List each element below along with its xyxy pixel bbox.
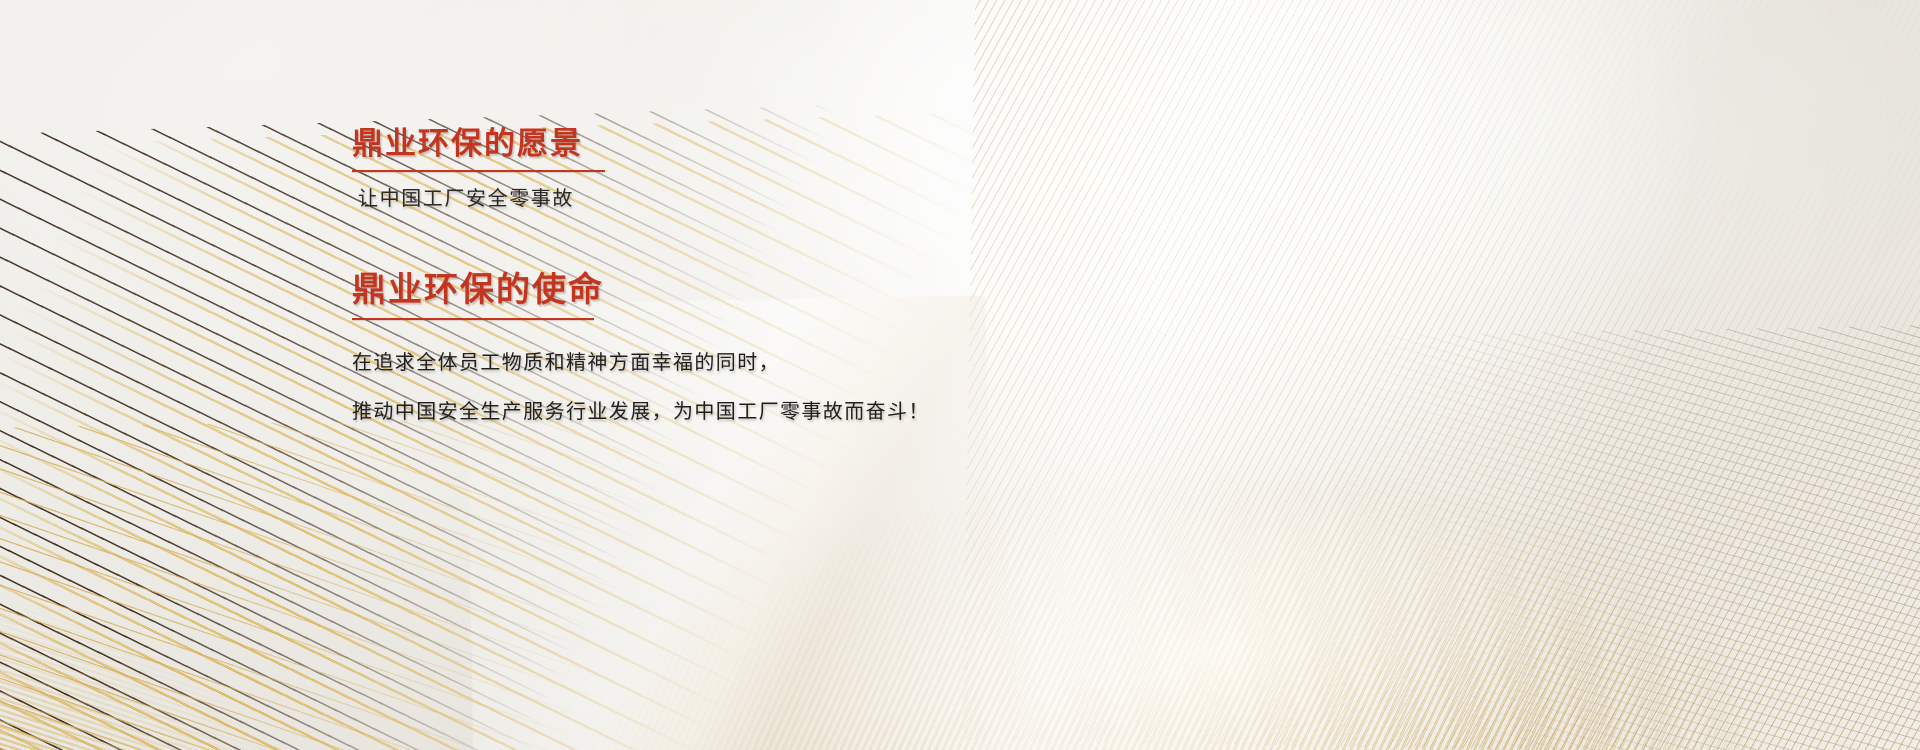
mission-line-1: 在追求全体员工物质和精神方面幸福的同时， xyxy=(352,348,1352,379)
banner-content: 鼎业环保的愿景 让中国工厂安全零事故 鼎业环保的使命 在追求全体员工物质和精神方… xyxy=(352,126,1352,428)
vision-mission-banner: 鼎业环保的愿景 让中国工厂安全零事故 鼎业环保的使命 在追求全体员工物质和精神方… xyxy=(0,0,1920,750)
mission-heading: 鼎业环保的使命 xyxy=(352,270,604,316)
mission-body: 在追求全体员工物质和精神方面幸福的同时， 推动中国安全生产服务行业发展，为中国工… xyxy=(352,348,1352,428)
mission-line-2: 推动中国安全生产服务行业发展，为中国工厂零事故而奋斗！ xyxy=(352,397,1352,428)
mission-block: 鼎业环保的使命 在追求全体员工物质和精神方面幸福的同时， 推动中国安全生产服务行… xyxy=(352,270,1352,428)
vision-block: 鼎业环保的愿景 让中国工厂安全零事故 xyxy=(352,126,1352,214)
mission-heading-underline xyxy=(352,318,594,320)
vision-heading-underline xyxy=(352,170,605,172)
vision-subtitle: 让中国工厂安全零事故 xyxy=(358,184,1352,214)
vision-heading: 鼎业环保的愿景 xyxy=(352,126,583,168)
